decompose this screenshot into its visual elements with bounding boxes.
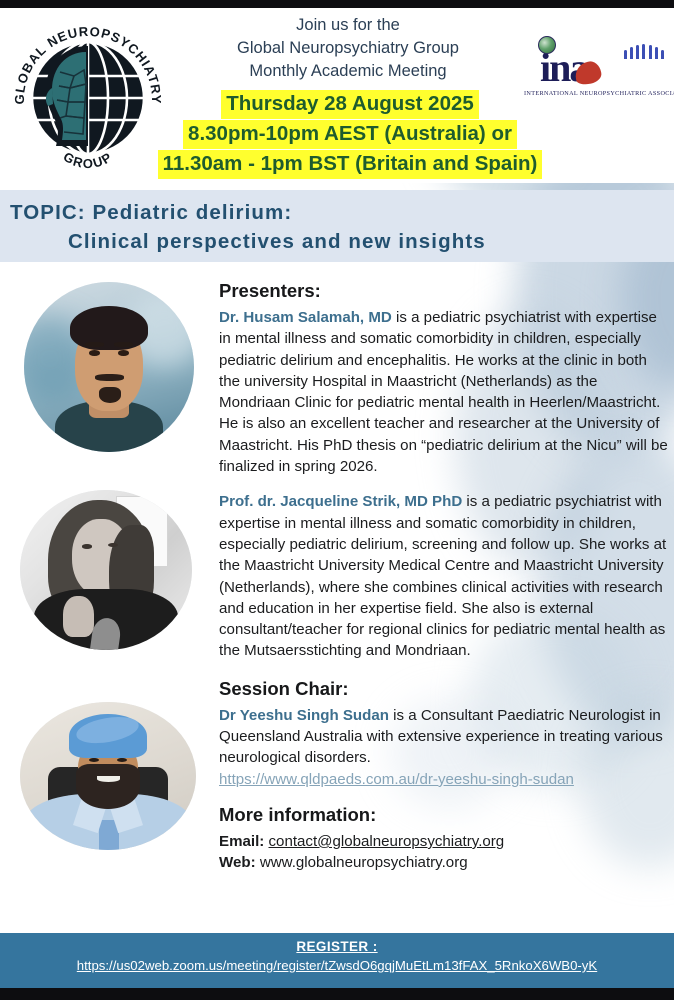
letterbox-bar-bottom bbox=[0, 988, 674, 1000]
session-chair-bio: Dr Yeeshu Singh Sudan is a Consultant Pa… bbox=[219, 705, 669, 769]
event-flyer: GLOBAL NEUROPSYCHIATRY GROUP Join us for… bbox=[0, 0, 674, 1000]
presenter-photo-husam-salamah bbox=[24, 282, 194, 452]
topic-line-2: Clinical perspectives and new insights bbox=[10, 227, 674, 256]
email-line: Email: contact@globalneuropsychiatry.org bbox=[219, 831, 669, 852]
topic-line-1: TOPIC: Pediatric delirium: bbox=[10, 198, 674, 227]
email-label: Email: bbox=[219, 833, 264, 850]
intro-line-2: Global Neuropsychiatry Group bbox=[178, 37, 518, 60]
register-footer-bar: REGISTER : https://us02web.zoom.us/meeti… bbox=[0, 933, 674, 988]
web-label: Web: bbox=[219, 854, 256, 871]
presenter-bio-text-1: is a pediatric psychiatrist with experti… bbox=[219, 309, 668, 475]
more-information-block: More information: Email: contact@globaln… bbox=[219, 804, 669, 874]
letterbox-bar-top bbox=[0, 0, 674, 8]
date-line-3: 11.30am - 1pm BST (Britain and Spain) bbox=[158, 150, 543, 179]
register-url-link[interactable]: https://us02web.zoom.us/meeting/register… bbox=[77, 958, 597, 973]
topic-banner: TOPIC: Pediatric delirium: Clinical pers… bbox=[0, 190, 674, 262]
presenter-bio-2: Prof. dr. Jacqueline Strik, MD PhD is a … bbox=[219, 491, 669, 661]
date-line-2: 8.30pm-10pm AEST (Australia) or bbox=[183, 120, 517, 149]
globe-icon bbox=[538, 36, 556, 54]
presenter-name-1: Dr. Husam Salamah, MD bbox=[219, 309, 392, 326]
presenter-name-2: Prof. dr. Jacqueline Strik, MD PhD bbox=[219, 493, 462, 510]
presenter-bio-text-2: is a pediatric psychiatrist with experti… bbox=[219, 493, 666, 659]
register-label: REGISTER : bbox=[0, 938, 674, 956]
session-chair-name: Dr Yeeshu Singh Sudan bbox=[219, 707, 389, 724]
flyer-body: Presenters: Dr. Husam Salamah, MD is a p… bbox=[0, 262, 674, 926]
intro-line-3: Monthly Academic Meeting bbox=[178, 60, 518, 83]
meeting-date-time-block: Thursday 28 August 2025 8.30pm-10pm AEST… bbox=[150, 90, 550, 180]
session-chair-profile-link[interactable]: https://www.qldpaeds.com.au/dr-yeeshu-si… bbox=[219, 769, 669, 790]
meeting-intro-text: Join us for the Global Neuropsychiatry G… bbox=[178, 14, 518, 83]
international-neuropsychiatric-association-logo: ina INTERNATIONAL NEUROPSYCHIATRIC ASSOC… bbox=[524, 48, 664, 106]
more-information-heading: More information: bbox=[219, 804, 669, 826]
flyer-header: GLOBAL NEUROPSYCHIATRY GROUP Join us for… bbox=[0, 8, 674, 183]
presenter-bio-1: Dr. Husam Salamah, MD is a pediatric psy… bbox=[219, 307, 669, 477]
ina-subtitle: INTERNATIONAL NEUROPSYCHIATRIC ASSOCIATI… bbox=[524, 90, 664, 97]
flyer-text-column: Presenters: Dr. Husam Salamah, MD is a p… bbox=[219, 280, 669, 874]
global-neuropsychiatry-group-logo: GLOBAL NEUROPSYCHIATRY GROUP bbox=[12, 16, 164, 174]
web-value[interactable]: www.globalneuropsychiatry.org bbox=[260, 854, 468, 871]
ina-crown-icon bbox=[624, 43, 664, 59]
presenters-heading: Presenters: bbox=[219, 280, 669, 302]
presenter-photo-jacqueline-strik bbox=[20, 490, 192, 650]
session-chair-heading: Session Chair: bbox=[219, 678, 669, 700]
date-line-1: Thursday 28 August 2025 bbox=[221, 90, 479, 119]
web-line: Web: www.globalneuropsychiatry.org bbox=[219, 852, 669, 873]
session-chair-photo-yeeshu-singh-sudan bbox=[20, 702, 196, 850]
intro-line-1: Join us for the bbox=[178, 14, 518, 37]
email-value[interactable]: contact@globalneuropsychiatry.org bbox=[269, 833, 505, 850]
